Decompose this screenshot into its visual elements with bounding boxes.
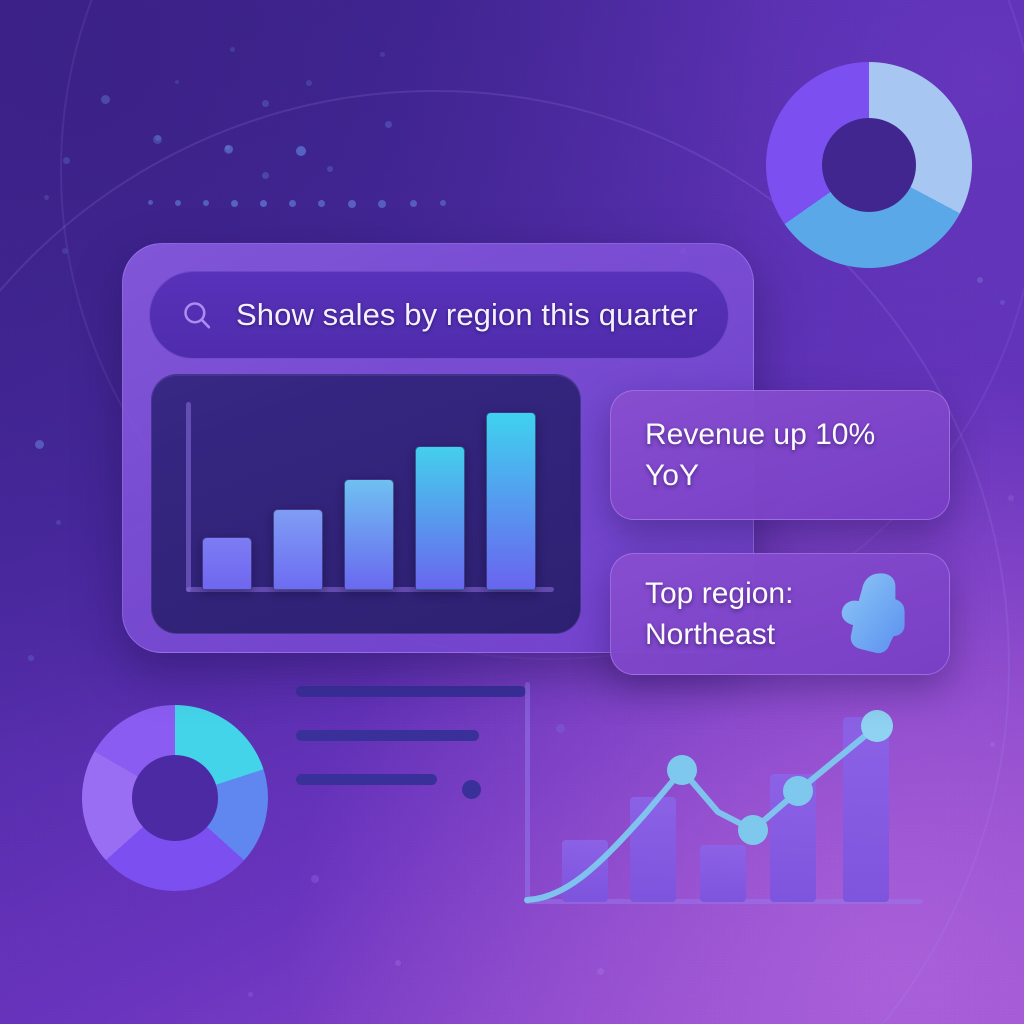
region-line-1: Top region: xyxy=(645,573,793,614)
placeholder-line xyxy=(296,686,526,697)
line-marker xyxy=(783,776,813,806)
combo-chart xyxy=(505,672,925,912)
chart-bar xyxy=(415,446,465,590)
insight-card-top-region[interactable]: Top region: Northeast xyxy=(610,553,950,675)
insight-card-revenue[interactable]: Revenue up 10% YoY xyxy=(610,390,950,520)
line-marker xyxy=(861,710,893,742)
donut-hole xyxy=(132,755,218,841)
search-bar[interactable]: Show sales by region this quarter xyxy=(149,271,729,359)
revenue-line-1: Revenue up 10% xyxy=(645,414,875,455)
placeholder-dot xyxy=(462,780,481,799)
revenue-line-2: YoY xyxy=(645,455,875,496)
search-input-value[interactable]: Show sales by region this quarter xyxy=(236,297,698,333)
placeholder-line xyxy=(296,730,479,741)
line-marker xyxy=(738,815,768,845)
text-placeholder-block xyxy=(296,686,526,818)
chart-bar xyxy=(486,412,536,590)
chart-bar xyxy=(344,479,394,590)
donut-chart-top-right xyxy=(766,62,972,268)
insight-card-revenue-text: Revenue up 10% YoY xyxy=(645,414,875,497)
donut-chart-bottom-left xyxy=(82,705,268,891)
region-map-icon xyxy=(831,568,923,660)
trend-line-svg xyxy=(505,672,925,912)
chart-bar xyxy=(202,537,252,590)
region-line-2: Northeast xyxy=(645,614,793,655)
chart-y-axis xyxy=(186,402,191,592)
placeholder-line xyxy=(296,774,437,785)
chart-bar xyxy=(273,509,323,590)
main-chart-card xyxy=(151,374,581,634)
line-marker xyxy=(667,755,697,785)
donut-hole xyxy=(822,118,917,213)
insight-card-region-text: Top region: Northeast xyxy=(645,573,793,656)
search-icon xyxy=(180,298,214,332)
